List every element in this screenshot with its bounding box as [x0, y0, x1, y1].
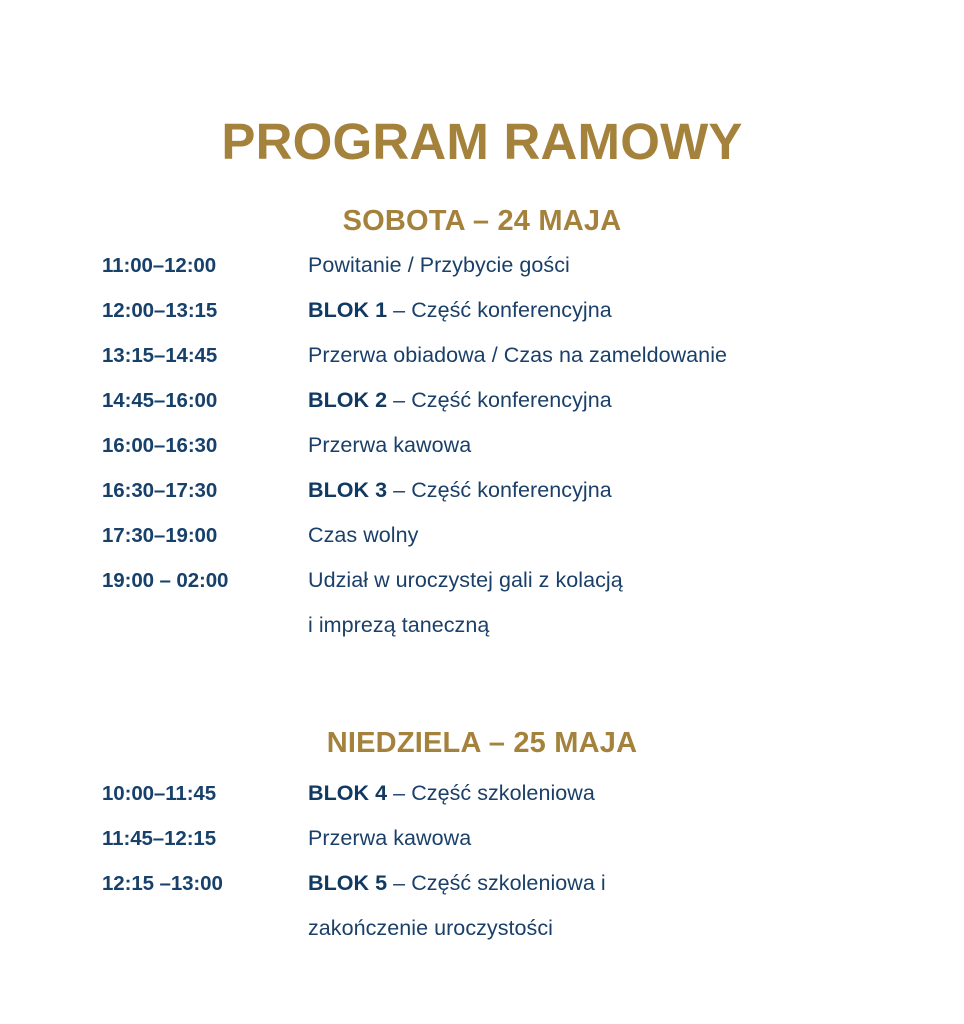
schedule-row-text: Przerwa kawowa — [308, 433, 471, 457]
schedule-row-text: – Część szkoleniowa i — [387, 871, 606, 895]
schedule-row: 12:15 –13:00BLOK 5 – Część szkoleniowa i… — [102, 861, 902, 951]
schedule-row-time: 14:45–16:00 — [102, 378, 308, 423]
schedule-row-text: Udział w uroczystej gali z kolacją — [308, 568, 623, 592]
schedule-row: 12:00–13:15BLOK 1 – Część konferencyjna — [102, 288, 902, 333]
day-header-sunday: NIEDZIELA – 25 MAJA — [0, 727, 964, 760]
schedule-row-block-label: BLOK 1 — [308, 298, 387, 322]
schedule-row-description: BLOK 1 – Część konferencyjna — [308, 288, 902, 333]
schedule-row-time: 12:15 –13:00 — [102, 861, 308, 906]
schedule-row-text: Czas wolny — [308, 523, 418, 547]
schedule-row-description: BLOK 2 – Część konferencyjna — [308, 378, 902, 423]
schedule-row-description: Przerwa kawowa — [308, 816, 902, 861]
schedule-row: 11:45–12:15Przerwa kawowa — [102, 816, 902, 861]
schedule-row: 17:30–19:00Czas wolny — [102, 513, 902, 558]
schedule-row-block-label: BLOK 3 — [308, 478, 387, 502]
page-title: PROGRAM RAMOWY — [0, 113, 964, 170]
schedule-row: 16:00–16:30Przerwa kawowa — [102, 423, 902, 468]
schedule-row-time: 10:00–11:45 — [102, 771, 308, 816]
schedule-row: 13:15–14:45Przerwa obiadowa / Czas na za… — [102, 333, 902, 378]
schedule-row-time: 11:00–12:00 — [102, 243, 308, 288]
schedule-row-time: 16:00–16:30 — [102, 423, 308, 468]
schedule-sunday: 10:00–11:45BLOK 4 – Część szkoleniowa11:… — [102, 771, 902, 951]
schedule-row-time: 12:00–13:15 — [102, 288, 308, 333]
schedule-row-description: BLOK 5 – Część szkoleniowa izakończenie … — [308, 861, 902, 951]
schedule-row-text: – Część szkoleniowa — [387, 781, 595, 805]
schedule-row-time: 17:30–19:00 — [102, 513, 308, 558]
schedule-row-time: 16:30–17:30 — [102, 468, 308, 513]
schedule-row-block-label: BLOK 4 — [308, 781, 387, 805]
schedule-row-description: Udział w uroczystej gali z kolacjąi impr… — [308, 558, 902, 648]
schedule-row-text: – Część konferencyjna — [387, 478, 612, 502]
schedule-row-block-label: BLOK 2 — [308, 388, 387, 412]
program-page: PROGRAM RAMOWY SOBOTA – 24 MAJA 11:00–12… — [0, 0, 964, 1024]
schedule-row: 19:00 – 02:00Udział w uroczystej gali z … — [102, 558, 902, 648]
day-header-saturday: SOBOTA – 24 MAJA — [0, 205, 964, 238]
schedule-row: 11:00–12:00Powitanie / Przybycie gości — [102, 243, 902, 288]
schedule-row-description: Czas wolny — [308, 513, 902, 558]
schedule-row-description: Przerwa kawowa — [308, 423, 902, 468]
schedule-row-text-continued: zakończenie uroczystości — [308, 906, 902, 951]
schedule-row-time: 19:00 – 02:00 — [102, 558, 308, 603]
schedule-row-text: Przerwa obiadowa / Czas na zameldowanie — [308, 343, 727, 367]
schedule-row-text: Powitanie / Przybycie gości — [308, 253, 570, 277]
schedule-row-text-continued: i imprezą taneczną — [308, 603, 902, 648]
schedule-row: 10:00–11:45BLOK 4 – Część szkoleniowa — [102, 771, 902, 816]
schedule-row-time: 11:45–12:15 — [102, 816, 308, 861]
schedule-row-text: Przerwa kawowa — [308, 826, 471, 850]
schedule-row-text: – Część konferencyjna — [387, 388, 612, 412]
schedule-row-description: BLOK 4 – Część szkoleniowa — [308, 771, 902, 816]
schedule-row-time: 13:15–14:45 — [102, 333, 308, 378]
schedule-row-description: Powitanie / Przybycie gości — [308, 243, 902, 288]
schedule-row: 14:45–16:00BLOK 2 – Część konferencyjna — [102, 378, 902, 423]
schedule-row-block-label: BLOK 5 — [308, 871, 387, 895]
schedule-row-description: BLOK 3 – Część konferencyjna — [308, 468, 902, 513]
schedule-saturday: 11:00–12:00Powitanie / Przybycie gości12… — [102, 243, 902, 648]
schedule-row-text: – Część konferencyjna — [387, 298, 612, 322]
schedule-row-description: Przerwa obiadowa / Czas na zameldowanie — [308, 333, 902, 378]
schedule-row: 16:30–17:30BLOK 3 – Część konferencyjna — [102, 468, 902, 513]
